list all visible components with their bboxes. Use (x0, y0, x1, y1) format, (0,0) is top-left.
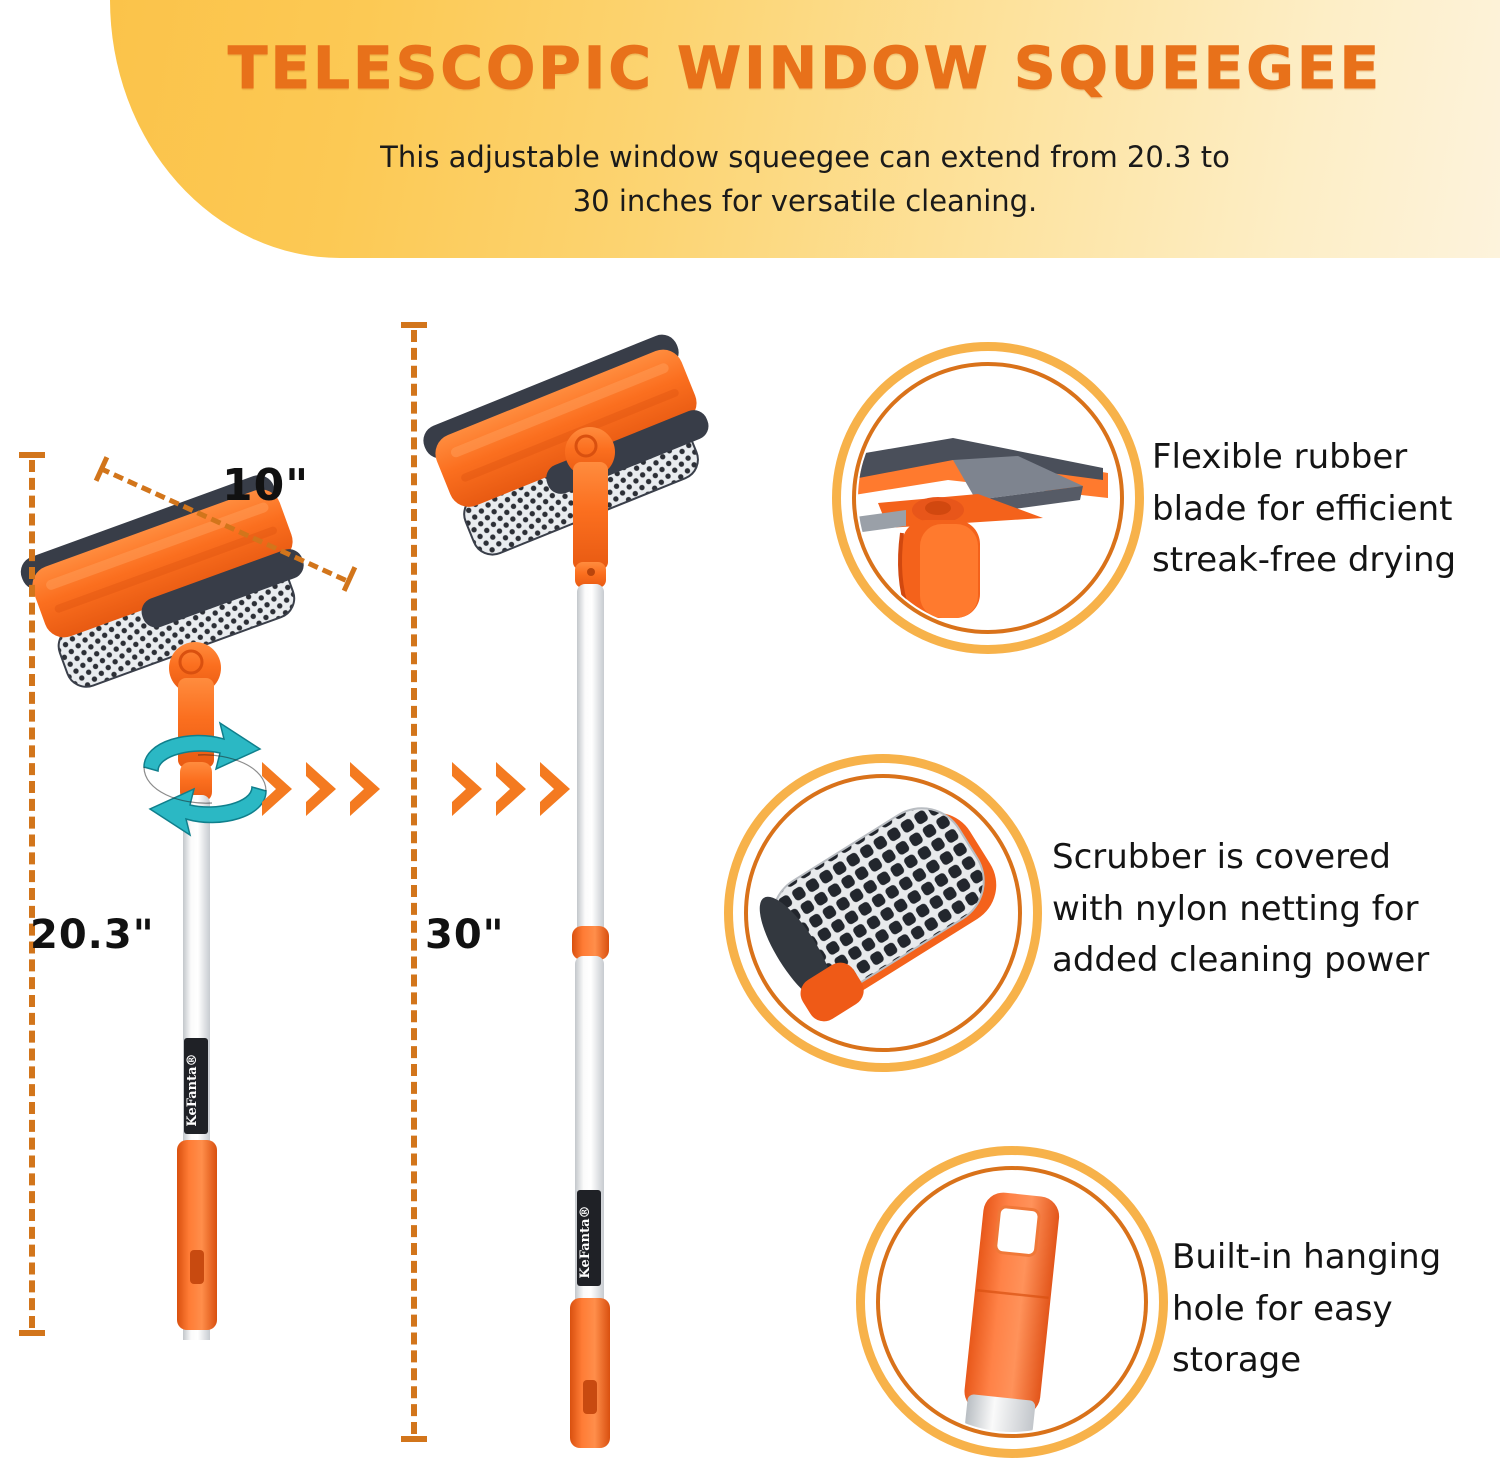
dimension-cap-top (19, 452, 45, 458)
chevron-group-left (258, 758, 384, 820)
chevron-right-icon (492, 758, 530, 820)
chevron-right-icon (448, 758, 486, 820)
feature-line: storage (1172, 1335, 1500, 1387)
feature-label-nylon-scrubber: Scrubber is covered with nylon netting f… (1052, 832, 1452, 987)
dimension-label-width: 10" (222, 460, 309, 511)
scrubber-netting-closeup-icon (750, 780, 1016, 1046)
feature-label-flexible-blade: Flexible rubber blade for efficient stre… (1152, 432, 1500, 587)
feature-circle-flexible-blade (832, 342, 1144, 654)
dimension-cap-bottom (401, 1436, 427, 1442)
dimension-line-collapsed (18, 452, 46, 1336)
page-title: TELESCOPIC WINDOW SQUEEGEE (110, 34, 1500, 102)
feature-line: blade for efficient (1152, 484, 1500, 536)
feature-line: Flexible rubber (1152, 432, 1500, 484)
chevron-right-icon (536, 758, 574, 820)
dimension-cap-top (401, 322, 427, 328)
handle-hanging-hole-closeup-icon (882, 1172, 1142, 1432)
feature-circle-nylon-scrubber (724, 754, 1042, 1072)
dimension-dashed-line (411, 330, 417, 1434)
chevron-right-icon (346, 758, 384, 820)
chevron-right-icon (258, 758, 296, 820)
feature-line: added cleaning power (1052, 935, 1452, 987)
feature-line: streak-free drying (1152, 535, 1500, 587)
brand-label-extended: KeFanta® (578, 1205, 593, 1278)
dimension-label-extended: 30" (425, 912, 505, 958)
feature-line: Built-in hanging (1172, 1232, 1500, 1284)
dimension-cap-bottom (19, 1330, 45, 1336)
dimension-dashed-line (29, 460, 35, 1328)
dimension-line-extended (400, 322, 428, 1442)
feature-line: hole for easy (1172, 1284, 1500, 1336)
brand-label-collapsed: KeFanta® (185, 1053, 200, 1126)
feature-line: with nylon netting for (1052, 884, 1452, 936)
feature-line: Scrubber is covered (1052, 832, 1452, 884)
dimension-label-collapsed: 20.3" (30, 912, 155, 958)
header-banner: TELESCOPIC WINDOW SQUEEGEE This adjustab… (110, 0, 1500, 258)
feature-label-hanging-hole: Built-in hanging hole for easy storage (1172, 1232, 1500, 1387)
squeegee-blade-closeup-icon (858, 368, 1118, 628)
feature-circle-hanging-hole (856, 1146, 1168, 1458)
chevron-group-right (448, 758, 574, 820)
page-subtitle: This adjustable window squeegee can exte… (375, 136, 1235, 223)
chevron-right-icon (302, 758, 340, 820)
